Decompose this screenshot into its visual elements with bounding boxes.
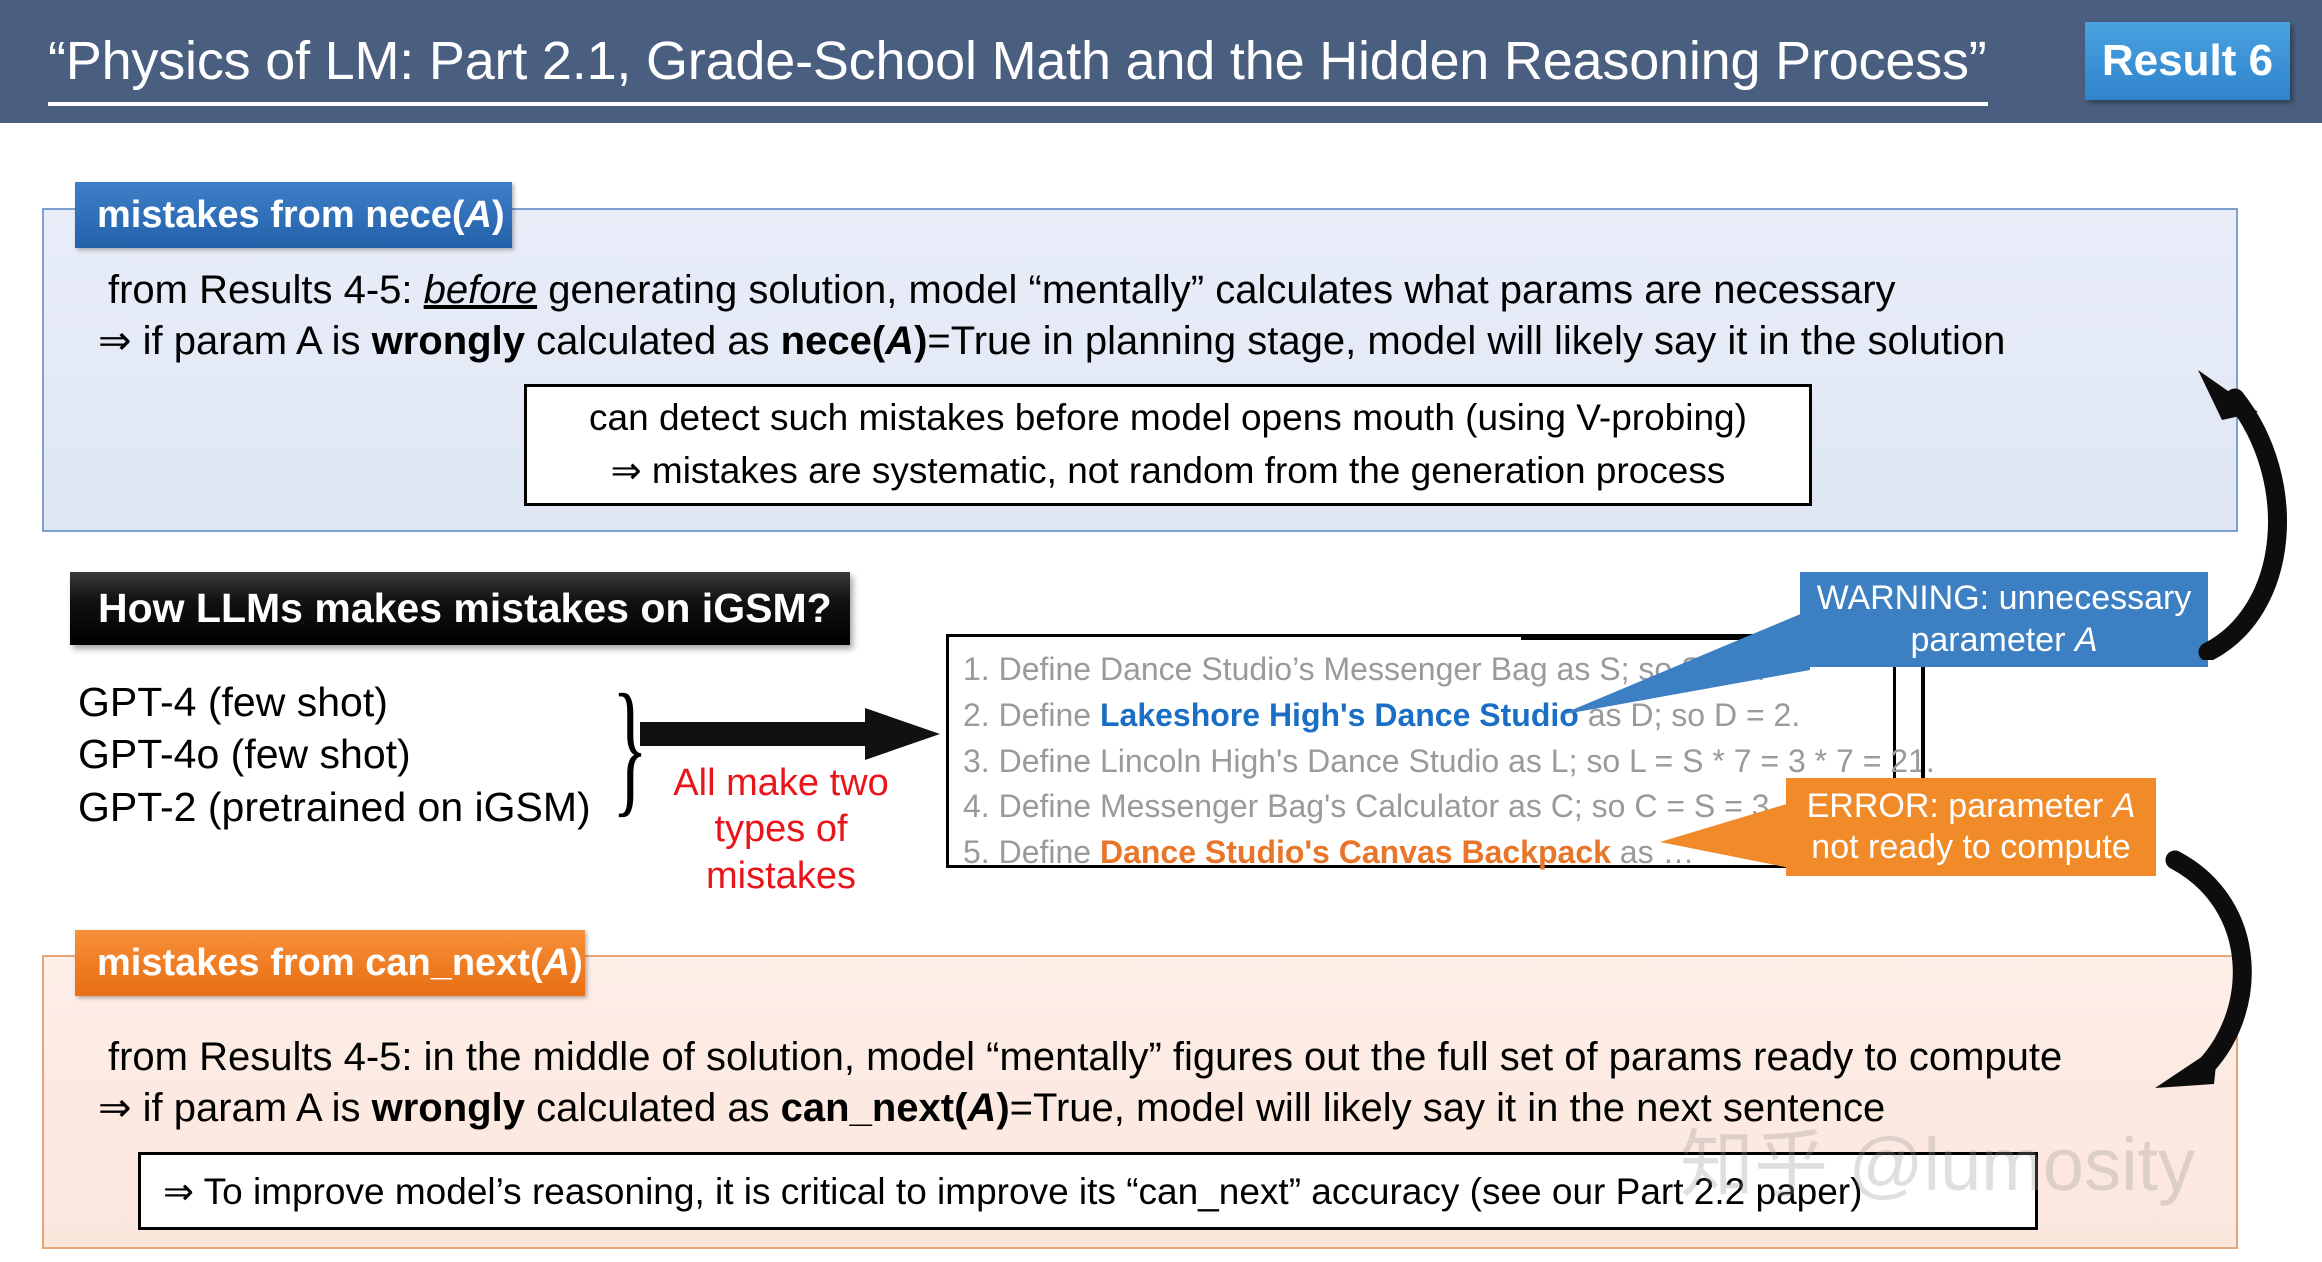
step-highlight: Dance Studio's Canvas Backpack (1100, 834, 1611, 870)
cn-line2-bold2-close: ) (996, 1086, 1009, 1130)
cannext-tab-label: mistakes from can_next( (97, 942, 543, 985)
cn-line2-bold2: can_next( (781, 1086, 968, 1130)
curved-arrow-up-icon (2140, 360, 2320, 660)
page-title: “Physics of LM: Part 2.1, Grade-School M… (48, 30, 1988, 106)
error-line1-pre: ERROR: parameter (1807, 787, 2113, 825)
nece-inner-line-2: ⇒ mistakes are systematic, not random fr… (611, 445, 1726, 498)
red-caption-line-2: types of mistakes (636, 806, 926, 899)
red-caption-line-1: All make two (636, 760, 926, 806)
curved-arrow-down-icon (2120, 850, 2320, 1110)
nece-line1-post: generating solution, model “mentally” ca… (537, 268, 1895, 312)
cannext-inner-line: ⇒ To improve model’s reasoning, it is cr… (163, 1170, 1862, 1213)
nece-line2-bold2: nece( (781, 319, 886, 363)
nece-line2-bold2-close: ) (914, 319, 927, 363)
cn-line2-mid: calculated as (525, 1086, 781, 1130)
cannext-tab-close: ) (570, 942, 583, 985)
error-callout: ERROR: parameter A not ready to compute (1786, 778, 2156, 876)
step-text: Lincoln High's Dance Studio as L; so L =… (1100, 743, 1935, 779)
result-badge-label: Result 6 (2102, 36, 2273, 86)
step-number: 5. Define (963, 834, 1100, 870)
cannext-tab-param: A (543, 942, 570, 985)
result-badge: Result 6 (2085, 22, 2290, 100)
cn-line2-pre: ⇒ if param A is (98, 1086, 372, 1130)
error-callout-tail (1660, 800, 1800, 870)
cn-line2-bold1: wrongly (372, 1086, 525, 1130)
list-item: GPT-2 (pretrained on iGSM) (78, 781, 591, 833)
step-number: 2. Define (963, 697, 1100, 733)
all-make-two-types-caption: All make two types of mistakes (636, 760, 926, 899)
nece-tab-param: A (465, 194, 492, 237)
step-number: 1. Define (963, 651, 1100, 687)
warning-callout-tail (1560, 610, 1810, 720)
cn-line2-post: =True, model will likely say it in the n… (1010, 1086, 1886, 1130)
nece-line2-mid: calculated as (525, 319, 781, 363)
step-number: 3. Define (963, 743, 1100, 779)
nece-line2-bold2-param: A (885, 319, 914, 363)
nece-line2-pre: ⇒ if param A is (98, 319, 372, 363)
nece-tab-label: mistakes from nece( (97, 194, 465, 237)
nece-line2-bold1: wrongly (372, 319, 525, 363)
nece-inner-line-1: can detect such mistakes before model op… (589, 392, 1747, 445)
nece-panel-tab: mistakes from nece(A) (75, 182, 512, 248)
nece-line-2: ⇒ if param A is wrongly calculated as ne… (98, 318, 2005, 364)
nece-inner-box: can detect such mistakes before model op… (524, 384, 1812, 506)
step-number: 4. Define (963, 788, 1100, 824)
warning-line-1: WARNING: unnecessary (1817, 578, 2192, 619)
cannext-panel-tab: mistakes from can_next(A) (75, 930, 585, 996)
right-arrow-icon (640, 708, 940, 760)
nece-line2-post: =True in planning stage, model will like… (927, 319, 2005, 363)
cannext-line-1: from Results 4-5: in the middle of solut… (108, 1035, 2062, 1080)
error-line1-param: A (2113, 787, 2136, 825)
model-list: GPT-4 (few shot) GPT-4o (few shot) GPT-2… (78, 676, 591, 833)
cannext-line-2: ⇒ if param A is wrongly calculated as ca… (98, 1085, 1885, 1131)
nece-line1-emph: before (424, 268, 537, 312)
step-highlight: Lakeshore High's Dance Studio (1100, 697, 1579, 733)
warning-line2-param: A (2075, 621, 2098, 659)
cannext-inner-box: ⇒ To improve model’s reasoning, it is cr… (138, 1152, 2038, 1230)
nece-tab-close: ) (492, 194, 505, 237)
list-item: GPT-4 (few shot) (78, 676, 591, 728)
warning-line2-pre: parameter (1910, 621, 2074, 659)
list-item: GPT-4o (few shot) (78, 728, 591, 780)
nece-line1-pre: from Results 4-5: (108, 268, 424, 312)
error-line-2: not ready to compute (1811, 827, 2130, 868)
cn-line2-bold2-param: A (967, 1086, 996, 1130)
warning-line-2: parameter A (1910, 620, 2097, 661)
nece-line-1: from Results 4-5: before generating solu… (108, 268, 1896, 313)
how-box-label: How LLMs makes mistakes on iGSM? (98, 585, 832, 632)
warning-stem-line (1921, 666, 1925, 784)
how-llms-make-mistakes-box: How LLMs makes mistakes on iGSM? (70, 572, 850, 645)
error-line-1: ERROR: parameter A (1807, 786, 2136, 827)
